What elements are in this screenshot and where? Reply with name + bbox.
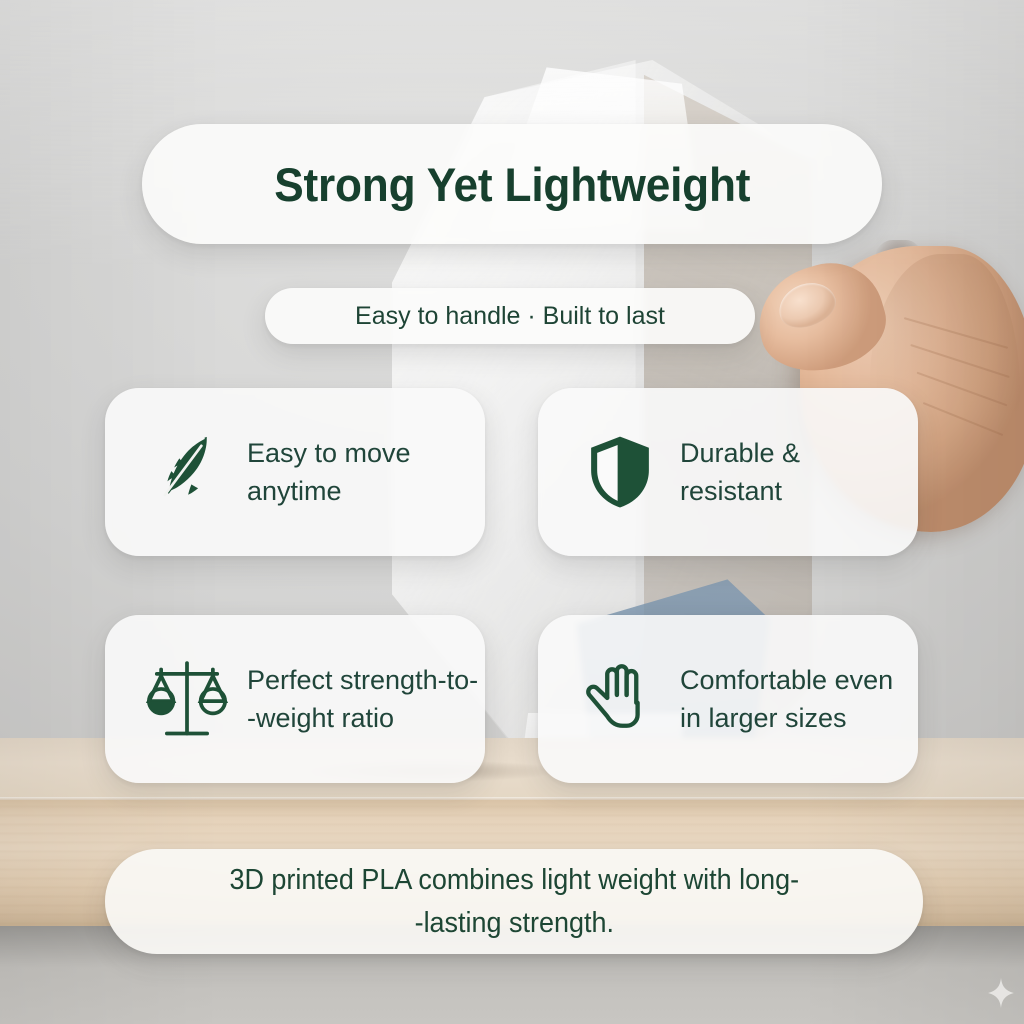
feature-card-durable[interactable]: Durable & resistant [538,388,918,556]
feature-card-label: Durable & resistant [680,434,800,511]
footer-description: 3D printed PLA combines light weight wit… [229,859,799,943]
promo-graphic: Strong Yet Lightweight Easy to handle · … [0,0,1024,1024]
page-subtitle: Easy to handle · Built to last [355,302,665,331]
feature-card-easy-to-move[interactable]: Easy to move anytime [105,388,485,556]
feature-card-label: Easy to move anytime [247,434,411,511]
open-hand-icon [568,647,672,751]
feature-card-strength-ratio[interactable]: Perfect strength-to- -weight ratio [105,615,485,783]
shield-icon [568,420,672,524]
sparkle-icon [988,978,1014,1008]
title-pill: Strong Yet Lightweight [142,124,882,244]
subtitle-pill: Easy to handle · Built to last [265,288,755,344]
footer-pill: 3D printed PLA combines light weight wit… [105,849,923,954]
feature-card-label: Perfect strength-to- -weight ratio [247,661,478,738]
page-title: Strong Yet Lightweight [274,157,750,212]
feature-card-comfortable[interactable]: Comfortable even in larger sizes [538,615,918,783]
balance-scale-icon [135,647,239,751]
feather-icon [135,420,239,524]
feature-card-label: Comfortable even in larger sizes [680,661,893,738]
